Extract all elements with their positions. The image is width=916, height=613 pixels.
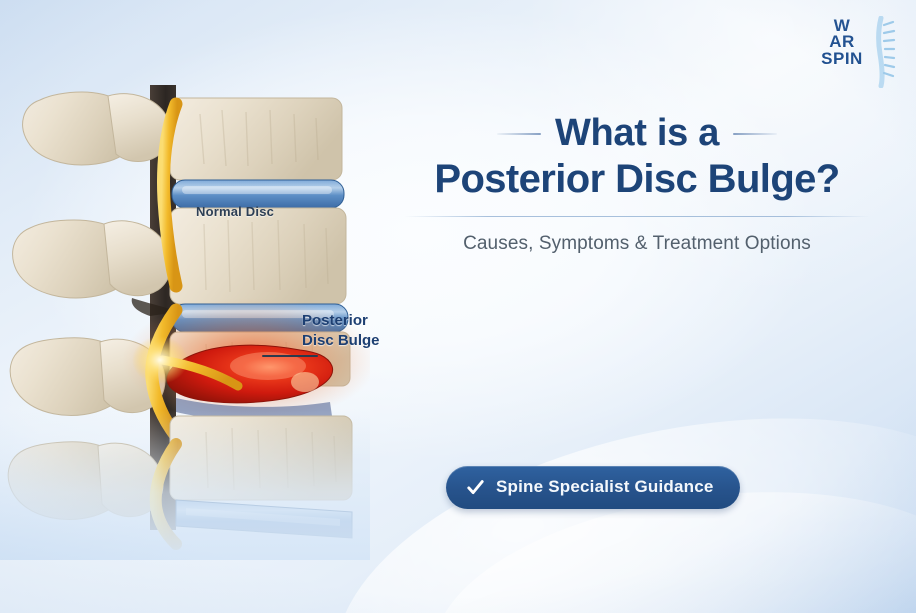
page-subtitle: Causes, Symptoms & Treatment Options: [388, 233, 886, 255]
label-posterior-disc-bulge: Posterior Disc Bulge: [302, 311, 380, 350]
spine-anatomy-svg: [0, 60, 370, 560]
title-row-top: What is a: [388, 112, 886, 155]
title-rule-left: [497, 133, 541, 135]
bulge-leader-line: [262, 355, 318, 357]
vertebra-2: [13, 208, 346, 316]
infographic-canvas: Normal Disc Posterior Disc Bulge What is…: [0, 0, 916, 613]
brand-logo-wordmark: W AR SPIN: [814, 18, 870, 67]
headline-block: What is a Posterior Disc Bulge? Causes, …: [388, 112, 886, 255]
spine-specialist-badge[interactable]: Spine Specialist Guidance: [446, 466, 740, 509]
title-divider: [404, 216, 870, 217]
label-normal-disc: Normal Disc: [196, 204, 274, 219]
nerve-irritation-hotspot: [132, 336, 188, 384]
page-title-line-1: What is a: [555, 112, 719, 155]
brand-logo-line-3: SPIN: [814, 51, 870, 67]
title-rule-right: [733, 133, 777, 135]
intervertebral-disc-lowest: [176, 500, 352, 538]
check-icon: [466, 478, 485, 497]
badge-label: Spine Specialist Guidance: [496, 477, 714, 497]
brand-logo[interactable]: W AR SPIN: [814, 14, 898, 90]
spine-icon: [868, 16, 896, 88]
label-bulge-line-1: Posterior: [302, 311, 380, 331]
label-bulge-line-2: Disc Bulge: [302, 331, 380, 351]
spine-illustration: [0, 60, 370, 560]
page-title-line-2: Posterior Disc Bulge?: [388, 157, 886, 202]
